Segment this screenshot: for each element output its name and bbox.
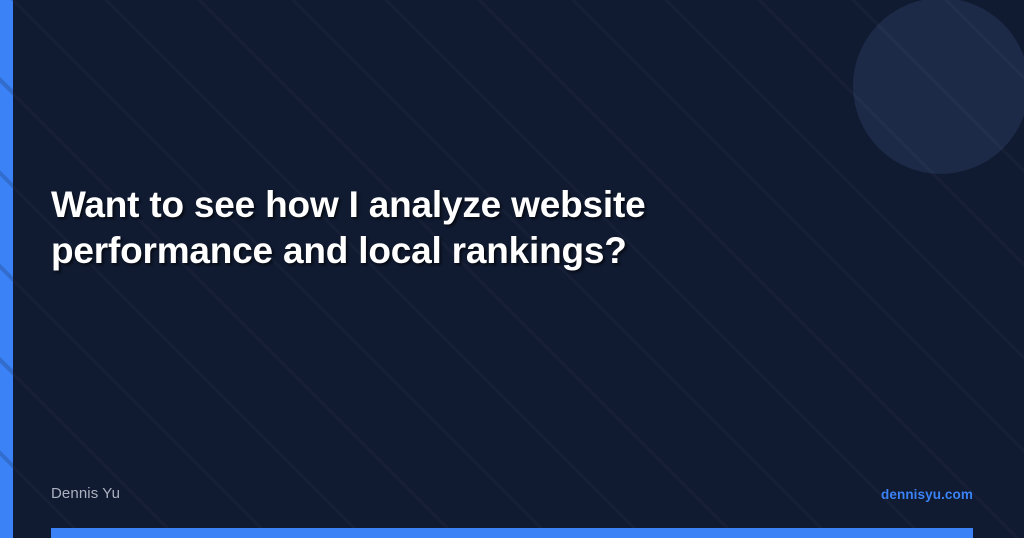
presentation-slide: Want to see how I analyze website perfor…	[0, 0, 1024, 538]
left-accent-bar	[0, 0, 13, 538]
decorative-circle	[853, 0, 1024, 174]
footer-website-link[interactable]: dennisyu.com	[881, 487, 973, 502]
left-accent-bar-stripes	[0, 0, 13, 538]
footer-author-name: Dennis Yu	[51, 485, 120, 502]
slide-headline: Want to see how I analyze website perfor…	[51, 182, 711, 274]
bottom-accent-bar	[51, 528, 973, 538]
